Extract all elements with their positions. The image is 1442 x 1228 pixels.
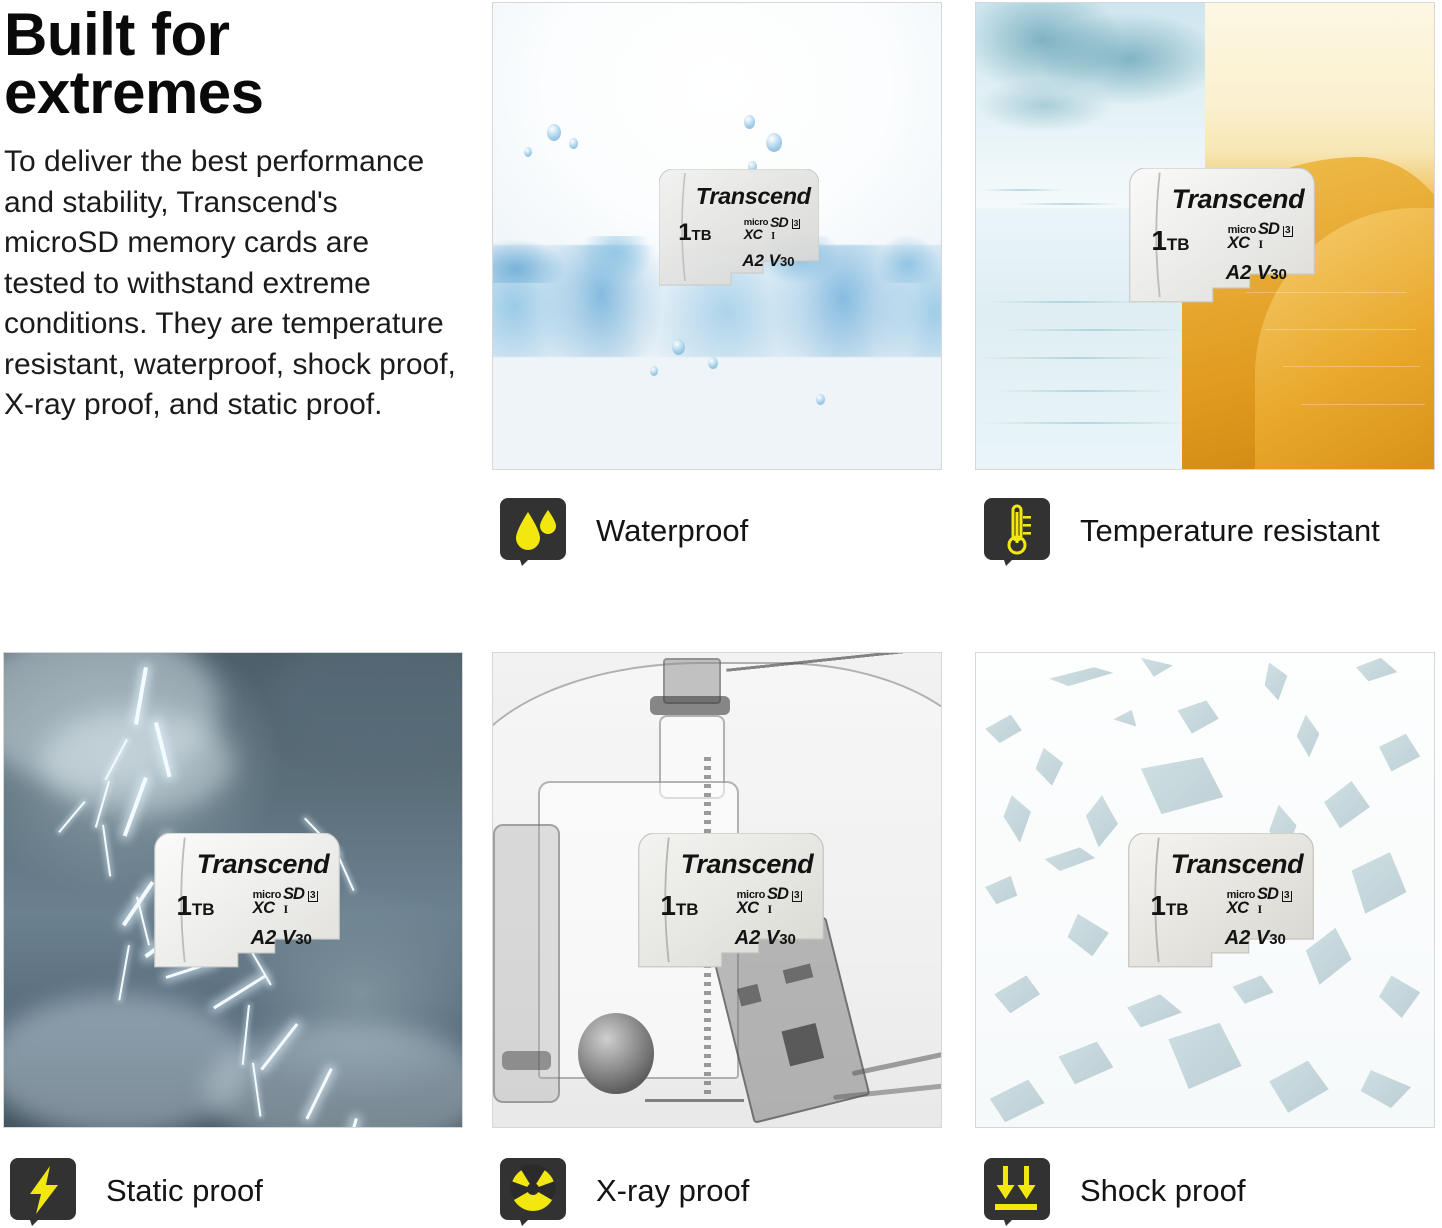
ice-ripple: [994, 390, 1173, 392]
panel-temperature-resistant: Transcend 1TB micro SD 3 XC I A2 V30: [975, 2, 1435, 470]
bottle-base: [502, 1051, 551, 1070]
microsd-card: Transcend 1TB micro SD 3 XC I A2 V30: [659, 169, 819, 293]
microsd-card: Transcend 1TB micro SD 3 XC I A2 V30: [154, 833, 340, 976]
strap: [650, 696, 731, 715]
water-drop-icon: [498, 492, 574, 568]
microsd-card: Transcend 1TB micro SD 3 XC I A2 V30: [638, 833, 824, 976]
water-droplet: [816, 394, 825, 405]
caption-label: Static proof: [106, 1175, 263, 1206]
ice-ripple: [1003, 329, 1186, 331]
sand-streak: [1283, 366, 1420, 367]
panel-static-proof: Transcend 1TB micro SD 3 XC I A2 V30: [3, 652, 463, 1128]
scene-xray-scan: Transcend 1TB micro SD 3 XC I A2 V30: [493, 653, 941, 1127]
cloud: [976, 78, 1113, 134]
thermometer-icon: [982, 492, 1058, 568]
zipper-bottom: [645, 1099, 744, 1105]
lightning-bolt-icon: [8, 1152, 84, 1228]
water-droplet: [672, 339, 685, 355]
panel-waterproof: Transcend 1TB micro SD 3 XC I A2 V30: [492, 2, 942, 470]
scene-storm-lightning: Transcend 1TB micro SD 3 XC I A2 V30: [4, 653, 462, 1127]
ice-ripple: [1017, 203, 1120, 205]
sand-streak: [1301, 404, 1425, 405]
sphere: [578, 1013, 654, 1094]
page-title: Built for extremes: [4, 6, 459, 122]
scene-water-splash: Transcend 1TB micro SD 3 XC I A2 V30: [493, 3, 941, 469]
caption-shock-proof: Shock proof: [982, 1152, 1245, 1228]
panel-shock-proof: Transcend 1TB micro SD 3 XC I A2 V30: [975, 652, 1435, 1128]
intro-block: Built for extremes To deliver the best p…: [4, 6, 459, 426]
caption-static-proof: Static proof: [8, 1152, 263, 1228]
microsd-card: Transcend 1TB micro SD 3 XC I A2 V30: [1128, 833, 1314, 976]
microsd-card: Transcend 1TB micro SD 3 XC I A2 V30: [1129, 168, 1315, 311]
radiation-icon: [498, 1152, 574, 1228]
water-droplet: [547, 124, 561, 141]
caption-temperature-resistant: Temperature resistant: [982, 492, 1380, 568]
sand-streak: [1265, 329, 1416, 330]
caption-waterproof: Waterproof: [498, 492, 748, 568]
ice-ripple: [987, 301, 1147, 303]
down-arrows-icon: [982, 1152, 1058, 1228]
caption-label: X-ray proof: [596, 1175, 749, 1206]
caption-label: Waterproof: [596, 515, 748, 546]
caption-xray-proof: X-ray proof: [498, 1152, 749, 1228]
panel-xray-proof: Transcend 1TB micro SD 3 XC I A2 V30: [492, 652, 942, 1128]
scene-shattered-glass: Transcend 1TB micro SD 3 XC I A2 V30: [976, 653, 1434, 1127]
feature-sheet: Built for extremes To deliver the best p…: [0, 0, 1442, 1227]
ice-ripple: [981, 189, 1063, 191]
water-droplet: [744, 115, 755, 129]
caption-label: Shock proof: [1080, 1175, 1245, 1206]
ice-ripple: [976, 357, 1178, 359]
scene-ice-and-desert: Transcend 1TB micro SD 3 XC I A2 V30: [976, 3, 1434, 469]
intro-paragraph: To deliver the best performance and stab…: [4, 142, 459, 426]
chip: [737, 984, 762, 1007]
chip: [782, 1023, 825, 1066]
caption-label: Temperature resistant: [1080, 515, 1380, 546]
